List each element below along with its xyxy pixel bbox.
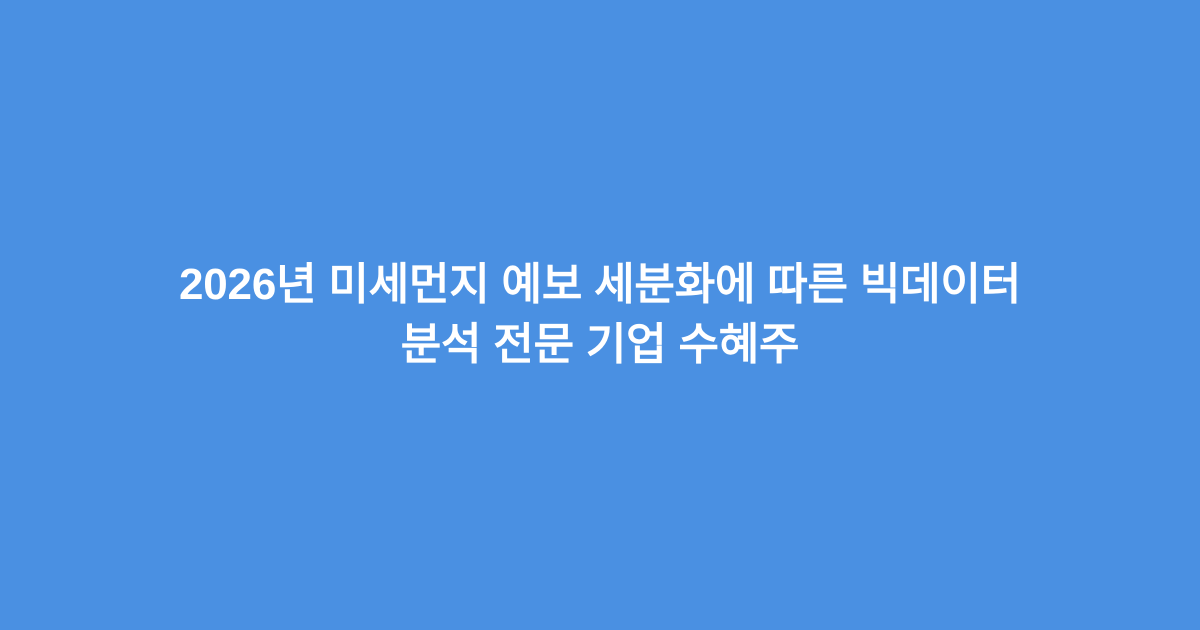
headline-line-2: 분석 전문 기업 수혜주 [100,315,1100,375]
page-title: 2026년 미세먼지 예보 세분화에 따른 빅데이터 분석 전문 기업 수혜주 [80,255,1120,375]
og-card: 2026년 미세먼지 예보 세분화에 따른 빅데이터 분석 전문 기업 수혜주 [0,0,1200,630]
headline-line-1: 2026년 미세먼지 예보 세분화에 따른 빅데이터 [100,255,1100,315]
